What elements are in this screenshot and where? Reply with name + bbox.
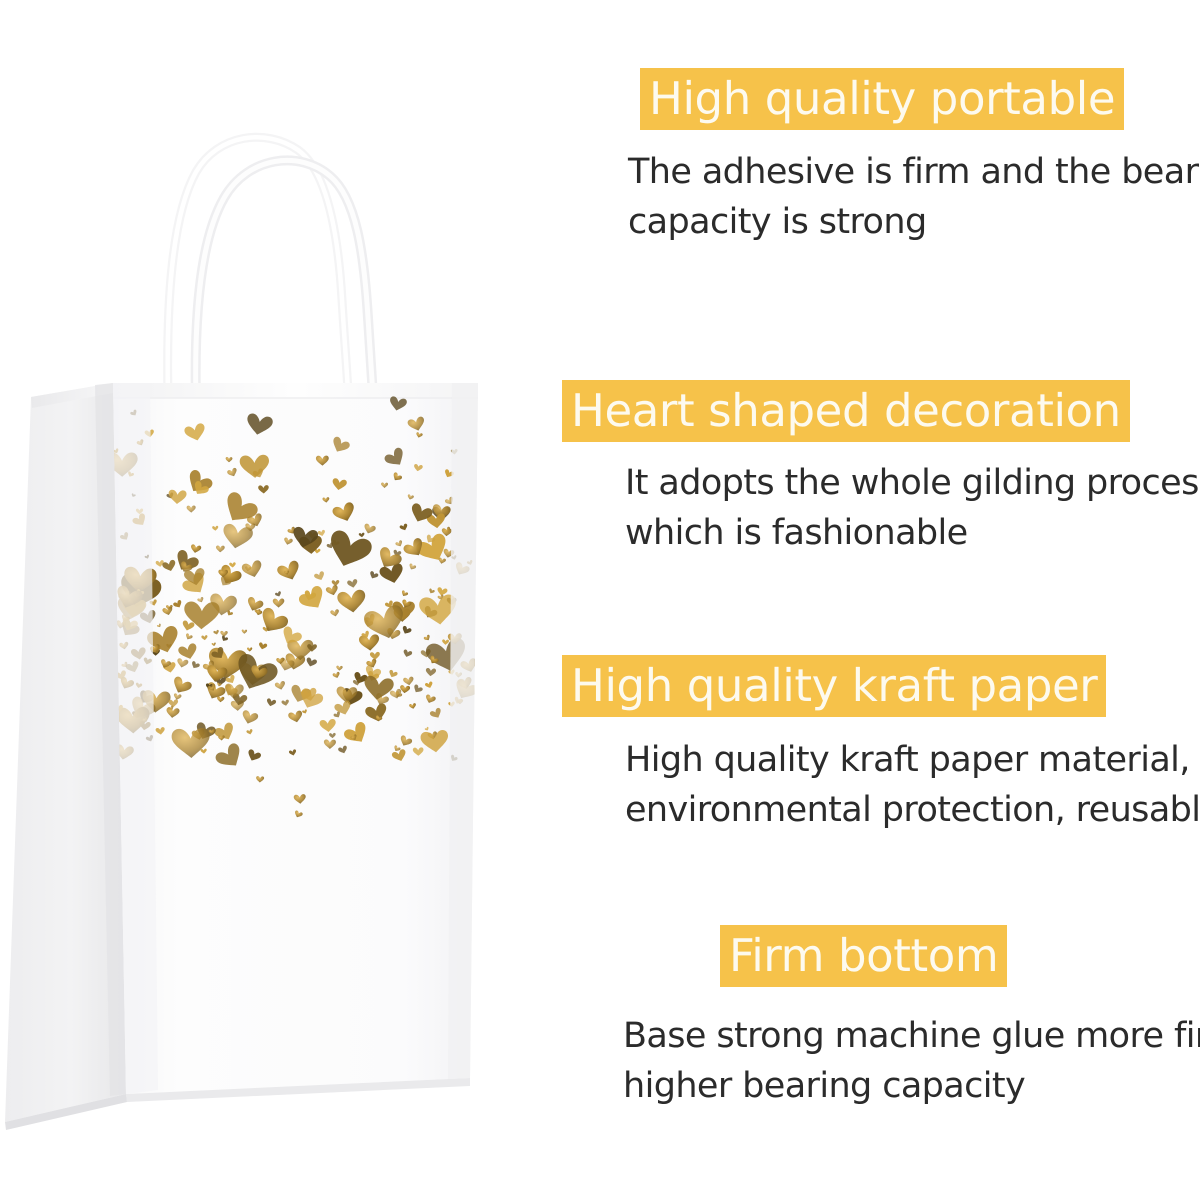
feature-title-highlight: Firm bottom (720, 925, 1007, 987)
feature-title-highlight: Heart shaped decoration (562, 380, 1130, 442)
gift-bag-illustration (0, 0, 540, 1200)
feature-description-line: Base strong machine glue more firm, (623, 1011, 1200, 1061)
feature-block-high-quality-kraft-paper: High quality kraft paper High quality kr… (540, 655, 1200, 835)
feature-description: It adopts the whole gilding process, whi… (540, 442, 1200, 558)
feature-block-heart-shaped-decoration: Heart shaped decoration It adopts the wh… (540, 380, 1200, 558)
feature-block-high-quality-portable: High quality portable The adhesive is fi… (540, 68, 1200, 247)
bag-front-shade-right (448, 383, 478, 1079)
feature-description-line: environmental protection, reusable (625, 785, 1200, 835)
feature-description-line: The adhesive is firm and the bearing (628, 147, 1200, 197)
feature-description: The adhesive is firm and the bearing cap… (540, 130, 1200, 247)
infographic-page: High quality portable The adhesive is fi… (0, 0, 1200, 1200)
feature-title-wrap: High quality kraft paper (540, 655, 1200, 717)
bag-handles (168, 137, 373, 402)
feature-description-line: which is fashionable (625, 508, 1200, 558)
feature-description: Base strong machine glue more firm, high… (540, 987, 1200, 1111)
feature-description-line: capacity is strong (628, 197, 1200, 247)
feature-list: High quality portable The adhesive is fi… (540, 0, 1200, 1200)
feature-description-line: higher bearing capacity (623, 1061, 1200, 1111)
feature-title-highlight: High quality portable (640, 68, 1124, 130)
bag-front-rim (113, 383, 478, 398)
feature-title-wrap: Firm bottom (540, 925, 1200, 987)
feature-title-wrap: High quality portable (540, 68, 1200, 130)
feature-block-firm-bottom: Firm bottom Base strong machine glue mor… (540, 925, 1200, 1111)
feature-description-line: It adopts the whole gilding process, (625, 458, 1200, 508)
feature-description-line: High quality kraft paper material, (625, 735, 1200, 785)
feature-title-highlight: High quality kraft paper (562, 655, 1106, 717)
feature-title-wrap: Heart shaped decoration (540, 380, 1200, 442)
feature-description: High quality kraft paper material, envir… (540, 717, 1200, 835)
product-photo (0, 0, 540, 1200)
